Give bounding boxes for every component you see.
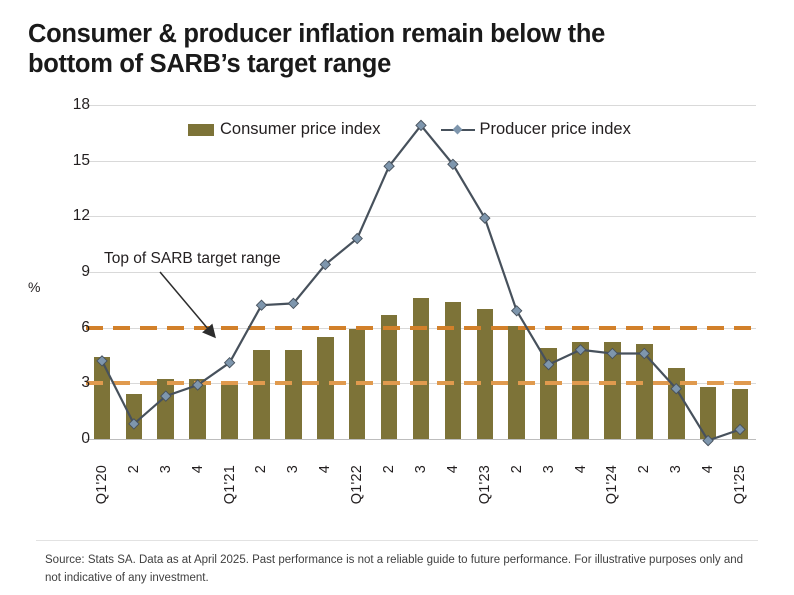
y-tick-15: 15 [50,152,90,170]
x-tick: Q1'24 [604,465,620,504]
source-note: Source: Stats SA. Data as at April 2025.… [45,552,745,588]
line-marker [735,424,745,434]
x-tick: 2 [126,465,142,473]
x-tick: 4 [445,465,461,473]
x-axis-tick-labels: Q1'20234Q1'21234Q1'22234Q1'23234Q1'24234… [86,465,756,535]
line-marker [480,213,490,223]
x-tick: 3 [541,465,557,473]
annotation-label: Top of SARB target range [104,250,281,268]
plot-area [86,105,756,461]
y-tick-18: 18 [50,96,90,114]
x-tick: 2 [381,465,397,473]
line-series-producer-price-index [86,105,756,461]
line-marker [607,348,617,358]
x-tick: 4 [700,465,716,473]
line-path [102,125,740,440]
y-tick-0: 0 [50,430,90,448]
y-tick-9: 9 [50,263,90,281]
x-tick: Q1'25 [732,465,748,504]
y-tick-6: 6 [50,319,90,337]
x-tick: 2 [253,465,269,473]
x-tick: 3 [285,465,301,473]
page-title: Consumer & producer inflation remain bel… [28,20,768,79]
x-tick: Q1'21 [222,465,238,504]
x-tick: 2 [509,465,525,473]
line-marker [512,306,522,316]
chart-page: Consumer & producer inflation remain bel… [0,0,794,595]
x-tick: 4 [317,465,333,473]
x-tick: 3 [413,465,429,473]
y-axis-unit-label: % [28,279,40,295]
x-tick: 4 [190,465,206,473]
x-tick: 2 [636,465,652,473]
line-marker [575,345,585,355]
footer-divider [36,540,758,541]
x-tick: 3 [668,465,684,473]
y-tick-3: 3 [50,374,90,392]
x-tick: 3 [158,465,174,473]
x-tick: Q1'20 [94,465,110,504]
line-marker [97,356,107,366]
line-marker [256,300,266,310]
x-tick: 4 [573,465,589,473]
x-tick: Q1'23 [477,465,493,504]
x-tick: Q1'22 [349,465,365,504]
y-tick-12: 12 [50,207,90,225]
line-marker [544,360,554,370]
line-marker [703,436,713,446]
